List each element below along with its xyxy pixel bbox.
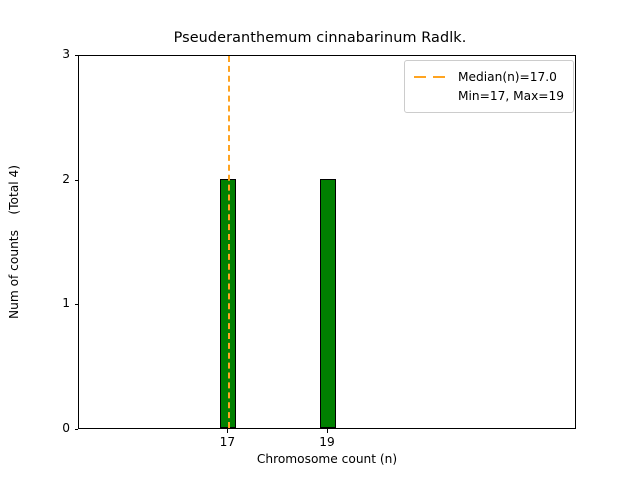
y-axis-label: Num of counts (Total 4) <box>7 165 21 319</box>
legend-item-median-label: Median(n)=17.0 <box>458 70 557 84</box>
y-tick-label: 0 <box>52 421 70 435</box>
legend-item-minmax: Min=17, Max=19 <box>413 86 565 105</box>
dashed-line-icon <box>413 70 449 84</box>
y-tick-label: 3 <box>52 47 70 61</box>
y-tick-mark <box>75 55 79 56</box>
page-title: Pseuderanthemum cinnabarinum Radlk. <box>0 30 640 46</box>
y-tick-label: 1 <box>52 296 70 310</box>
chart-figure: Pseuderanthemum cinnabarinum Radlk. Num … <box>0 0 640 480</box>
bar <box>320 179 336 428</box>
y-axis-label-container: Num of counts (Total 4) <box>0 55 28 429</box>
y-tick-mark <box>75 429 79 430</box>
x-tick-mark <box>327 429 328 433</box>
y-tick-mark <box>75 304 79 305</box>
x-tick-label: 19 <box>319 435 335 449</box>
legend: Median(n)=17.0 Min=17, Max=19 <box>404 60 574 113</box>
x-tick-mark <box>227 429 228 433</box>
legend-item-minmax-label: Min=17, Max=19 <box>458 89 564 103</box>
y-tick-mark <box>75 180 79 181</box>
x-axis-label: Chromosome count (n) <box>78 452 576 466</box>
legend-item-median: Median(n)=17.0 <box>413 67 565 86</box>
median-line <box>228 56 230 428</box>
x-tick-label: 17 <box>220 435 236 449</box>
y-tick-label: 2 <box>52 172 70 186</box>
